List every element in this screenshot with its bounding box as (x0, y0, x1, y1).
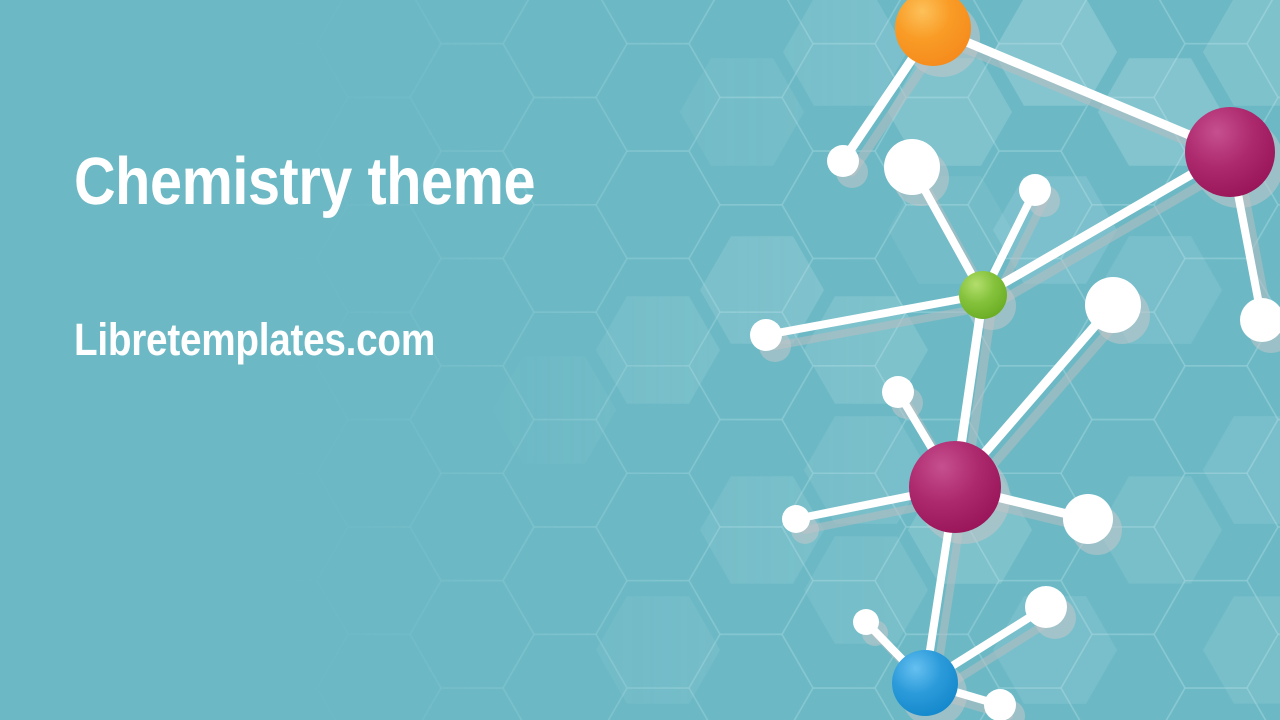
atom-shadows (759, 1, 1280, 720)
molecular-atoms (750, 0, 1280, 720)
page-subtitle: Libretemplates.com (74, 317, 556, 362)
molecular-bonds (766, 28, 1262, 705)
title-text-block: Chemistry theme Libretemplates.com (74, 148, 634, 362)
page-title: Chemistry theme (74, 148, 556, 215)
bond-shadows (775, 39, 1271, 716)
slide-canvas: Chemistry theme Libretemplates.com (0, 0, 1280, 720)
